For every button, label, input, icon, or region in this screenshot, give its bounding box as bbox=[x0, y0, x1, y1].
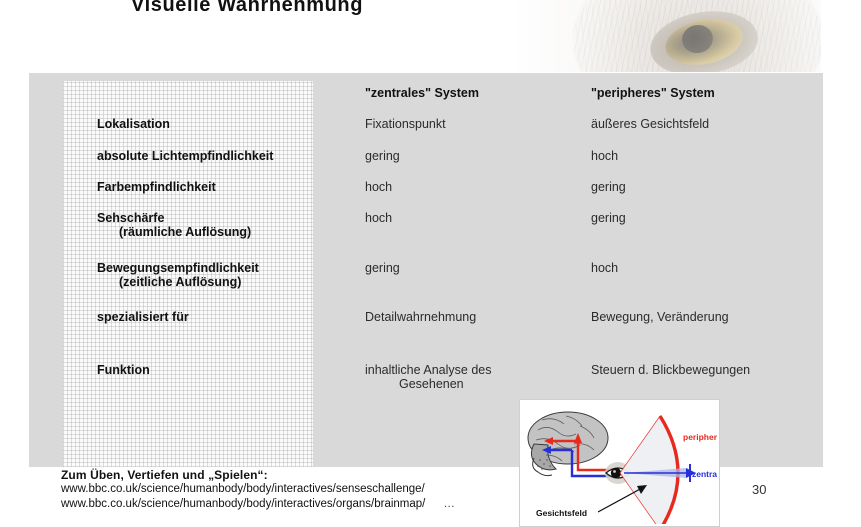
row-label: Lokalisation bbox=[97, 117, 170, 131]
column-header-central: "zentrales" System bbox=[365, 86, 479, 100]
row-value-central: inhaltliche Analyse des Gesehenen bbox=[365, 363, 491, 391]
footer-link-row: www.bbc.co.uk/science/humanbody/body/int… bbox=[61, 497, 581, 512]
row-value-peripheral: hoch bbox=[591, 149, 618, 163]
row-value-central: Detailwahrnehmung bbox=[365, 310, 476, 324]
page-number: 30 bbox=[752, 482, 766, 497]
footer: Zum Üben, Vertiefen und „Spielen“: www.b… bbox=[61, 468, 581, 512]
label-gesichtsfeld: Gesichtsfeld bbox=[536, 508, 587, 518]
row-value-central: hoch bbox=[365, 180, 392, 194]
row-label-main: Sehschärfe bbox=[97, 211, 164, 225]
row-value-peripheral: hoch bbox=[591, 261, 618, 275]
label-zentral: zentral bbox=[692, 469, 717, 479]
owl-eye-photo bbox=[515, 0, 821, 72]
row-label: absolute Lichtempfindlichkeit bbox=[97, 149, 273, 163]
row-label: Sehschärfe (räumliche Auflösung) bbox=[97, 211, 251, 239]
row-value-central: hoch bbox=[365, 211, 392, 225]
footer-link[interactable]: www.bbc.co.uk/science/humanbody/body/int… bbox=[61, 498, 425, 510]
row-label: spezialisiert für bbox=[97, 310, 189, 324]
row-value-peripheral: Bewegung, Veränderung bbox=[591, 310, 729, 324]
row-value-central: Fixationspunkt bbox=[365, 117, 446, 131]
footer-heading: Zum Üben, Vertiefen und „Spielen“: bbox=[61, 468, 581, 482]
row-label-sub: (räumliche Auflösung) bbox=[97, 225, 251, 239]
row-value-peripheral: gering bbox=[591, 180, 626, 194]
column-header-peripheral: "peripheres" System bbox=[591, 86, 715, 100]
footer-link[interactable]: www.bbc.co.uk/science/humanbody/body/int… bbox=[61, 482, 581, 497]
row-label: Bewegungsempfindlichkeit (zeitliche Aufl… bbox=[97, 261, 259, 289]
row-value-central-line1: inhaltliche Analyse des bbox=[365, 363, 491, 377]
brain-illustration bbox=[528, 412, 608, 476]
row-value-central: gering bbox=[365, 149, 400, 163]
photo-fade-overlay bbox=[515, 0, 821, 72]
row-label-main: Bewegungsempfindlichkeit bbox=[97, 261, 259, 275]
row-value-peripheral: gering bbox=[591, 211, 626, 225]
visual-field-diagram: peripher zentral Gesichtsfeld bbox=[519, 399, 720, 527]
row-value-peripheral: Steuern d. Blickbewegungen bbox=[591, 363, 750, 377]
row-label: Farbempfindlichkeit bbox=[97, 180, 216, 194]
row-value-peripheral: äußeres Gesichtsfeld bbox=[591, 117, 709, 131]
page-title: Visuelle Wahrnehmung bbox=[131, 0, 363, 17]
row-value-central-line2: Gesehenen bbox=[365, 377, 491, 391]
label-peripher: peripher bbox=[683, 432, 717, 442]
footer-ellipsis: … bbox=[425, 497, 455, 512]
row-label: Funktion bbox=[97, 363, 150, 377]
row-label-sub: (zeitliche Auflösung) bbox=[97, 275, 259, 289]
row-value-central: gering bbox=[365, 261, 400, 275]
